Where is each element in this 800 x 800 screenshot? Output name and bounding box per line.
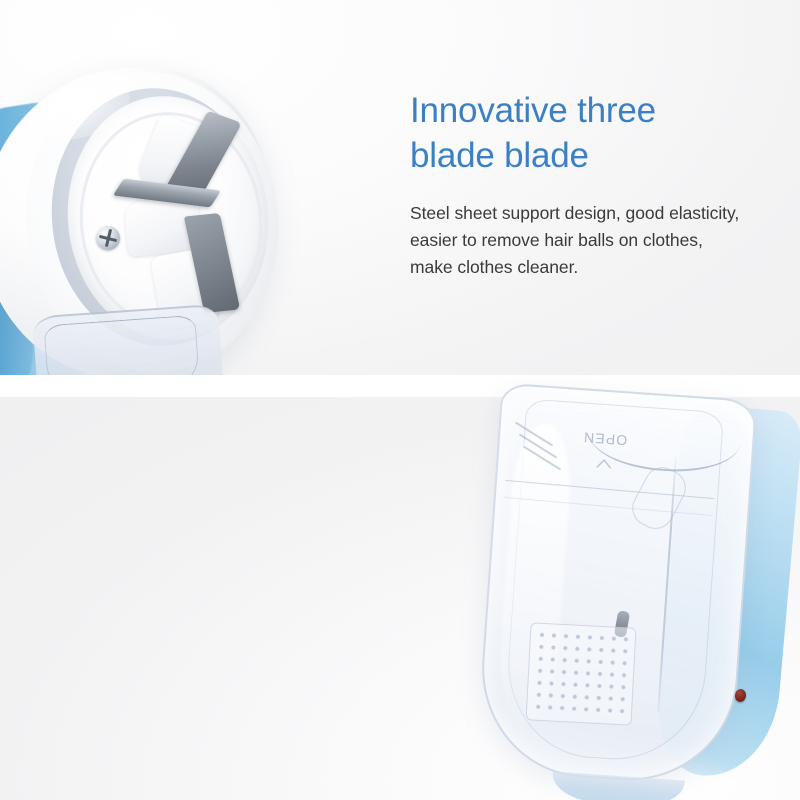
feature-description: Steel sheet support design, good elastic… bbox=[410, 200, 745, 281]
chip-box-tip bbox=[551, 771, 685, 800]
product-feature-banner: Innovative three blade blade Steel sheet… bbox=[0, 0, 800, 800]
feature-copy-blade: Innovative three blade blade Steel sheet… bbox=[410, 88, 780, 281]
phillips-screw-icon bbox=[96, 226, 120, 250]
clear-cup-seam bbox=[44, 315, 201, 375]
feature-panel-blade: Innovative three blade blade Steel sheet… bbox=[0, 0, 800, 375]
textured-dot-pad bbox=[526, 622, 637, 725]
panel-divider bbox=[0, 375, 800, 397]
product-image-blade-head bbox=[0, 20, 370, 375]
feature-headline: Innovative three blade blade bbox=[410, 88, 780, 178]
product-image-chip-storage-box: OPEN bbox=[470, 397, 800, 800]
dot-grid-texture bbox=[532, 629, 630, 720]
